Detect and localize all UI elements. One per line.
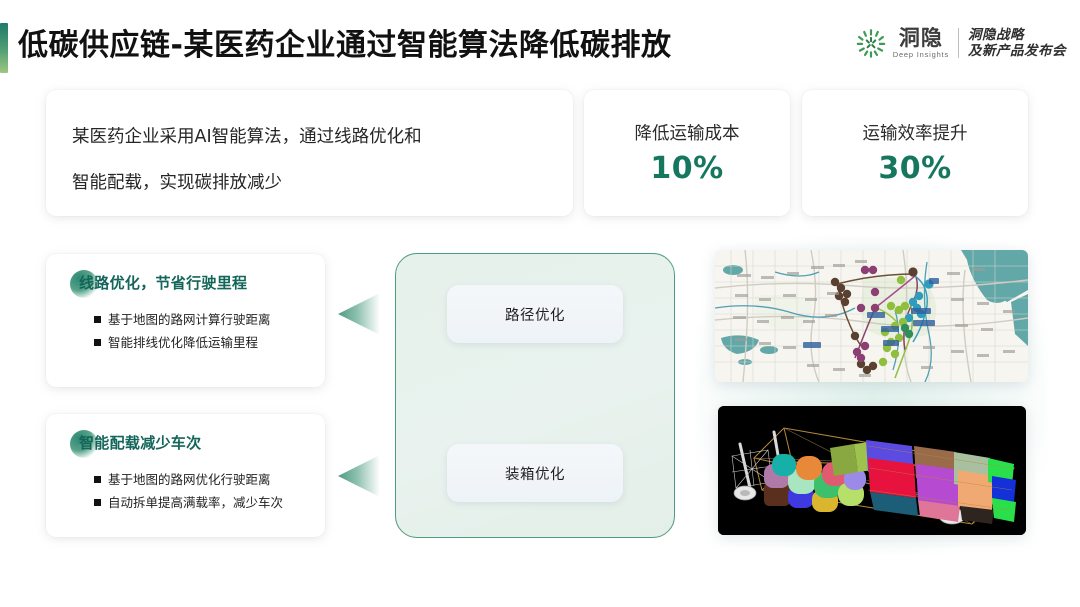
description-card: 某医药企业采用AI智能算法，通过线路优化和 智能配载，实现碳排放减少 <box>46 90 573 216</box>
feature-heading: 线路优化，节省行驶里程 <box>79 272 247 294</box>
metric-card-transport-efficiency: 运输效率提升 30% <box>802 90 1028 216</box>
feature-card-smart-loading: 智能配载减少车次 基于地图的路网优化行驶距离 自动拆单提高满载率，减少车次 <box>46 414 325 537</box>
brand-name-cn: 洞隐 <box>899 27 943 49</box>
metric-label: 运输效率提升 <box>863 120 968 145</box>
brand-tagline: 洞隐战略 及新产品发布会 <box>968 27 1066 59</box>
list-item-label: 基于地图的路网计算行驶距离 <box>108 312 271 327</box>
arrow-left-packing-icon <box>338 455 380 497</box>
brand-logo: 洞隐 Deep Insights 洞隐战略 及新产品发布会 <box>854 22 1066 64</box>
feature-bullet-list: 基于地图的路网计算行驶距离 智能排线优化降低运输里程 <box>46 308 325 354</box>
metric-value: 10% <box>650 151 723 186</box>
feature-card-route-optimization: 线路优化，节省行驶里程 基于地图的路网计算行驶距离 智能排线优化降低运输里程 <box>46 254 325 387</box>
panel-item-route-optimization[interactable]: 路径优化 <box>447 285 623 343</box>
list-item-label: 智能排线优化降低运输里程 <box>108 335 258 350</box>
square-bullet-icon <box>94 476 101 483</box>
brand-name-en: Deep Insights <box>893 50 949 59</box>
description-line-2: 智能配载，实现碳排放减少 <box>72 160 547 206</box>
arrow-left-route-icon <box>338 293 380 335</box>
panel-item-label: 装箱优化 <box>505 463 565 484</box>
brand-tagline-line2: 及新产品发布会 <box>968 43 1066 59</box>
title-accent-bar <box>0 23 8 73</box>
container-loading-3d-image <box>718 406 1026 535</box>
feature-heading: 智能配载减少车次 <box>79 432 201 454</box>
radial-burst-icon <box>854 26 888 60</box>
list-item-label: 自动拆单提高满载率，减少车次 <box>108 495 283 510</box>
square-bullet-icon <box>94 499 101 506</box>
brand-wordmark: 洞隐 Deep Insights <box>893 27 949 59</box>
route-map-image <box>715 250 1028 382</box>
panel-item-packing-optimization[interactable]: 装箱优化 <box>447 444 623 502</box>
brand-tagline-line1: 洞隐战略 <box>968 27 1066 43</box>
feature-heading-row: 智能配载减少车次 <box>46 432 325 464</box>
list-item: 基于地图的路网计算行驶距离 <box>94 308 325 331</box>
feature-heading-row: 线路优化，节省行驶里程 <box>46 272 325 304</box>
square-bullet-icon <box>94 316 101 323</box>
square-bullet-icon <box>94 339 101 346</box>
description-body: 某医药企业采用AI智能算法，通过线路优化和 智能配载，实现碳排放减少 <box>46 90 573 206</box>
page-title: 低碳供应链-某医药企业通过智能算法降低碳排放 <box>18 18 671 74</box>
metric-card-transport-cost: 降低运输成本 10% <box>584 90 790 216</box>
feature-bullet-list: 基于地图的路网优化行驶距离 自动拆单提高满载率，减少车次 <box>46 468 325 514</box>
list-item-label: 基于地图的路网优化行驶距离 <box>108 472 271 487</box>
algorithm-panel: 路径优化 装箱优化 <box>395 253 675 538</box>
metric-value: 30% <box>878 151 951 186</box>
list-item: 智能排线优化降低运输里程 <box>94 331 325 354</box>
brand-divider <box>958 28 959 58</box>
list-item: 基于地图的路网优化行驶距离 <box>94 468 325 491</box>
list-item: 自动拆单提高满载率，减少车次 <box>94 491 325 514</box>
panel-item-label: 路径优化 <box>505 304 565 325</box>
metric-content: 降低运输成本 10% <box>584 90 790 216</box>
metric-content: 运输效率提升 30% <box>802 90 1028 216</box>
metric-label: 降低运输成本 <box>635 120 740 145</box>
description-line-1: 某医药企业采用AI智能算法，通过线路优化和 <box>72 114 547 160</box>
slide-root: 低碳供应链-某医药企业通过智能算法降低碳排放 <box>0 0 1080 607</box>
